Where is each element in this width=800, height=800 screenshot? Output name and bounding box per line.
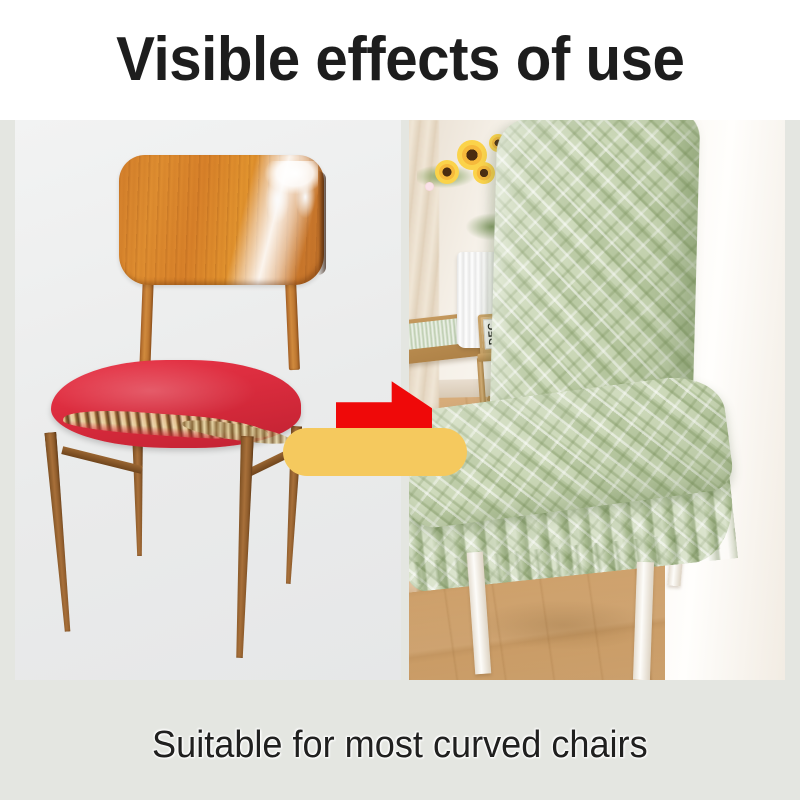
sunflower-icon <box>473 162 495 184</box>
before-photo <box>15 120 401 680</box>
highlight-pill <box>283 428 467 476</box>
poster-root: Visible effects of use <box>0 0 800 800</box>
title-band: Visible effects of use <box>0 0 800 120</box>
after-photo: DEC 1 8 <box>409 120 785 680</box>
backrest-edge <box>318 171 326 275</box>
worn-chair-backrest <box>119 155 324 285</box>
filler-bud <box>425 182 434 191</box>
worn-red-seat-cushion <box>51 360 301 448</box>
sunflower-icon <box>435 160 459 184</box>
page-title: Visible effects of use <box>116 29 684 91</box>
caption-band: Suitable for most curved chairs <box>0 690 800 800</box>
caption-text: Suitable for most curved chairs <box>152 724 648 767</box>
backrest-worn-patch <box>260 161 318 223</box>
